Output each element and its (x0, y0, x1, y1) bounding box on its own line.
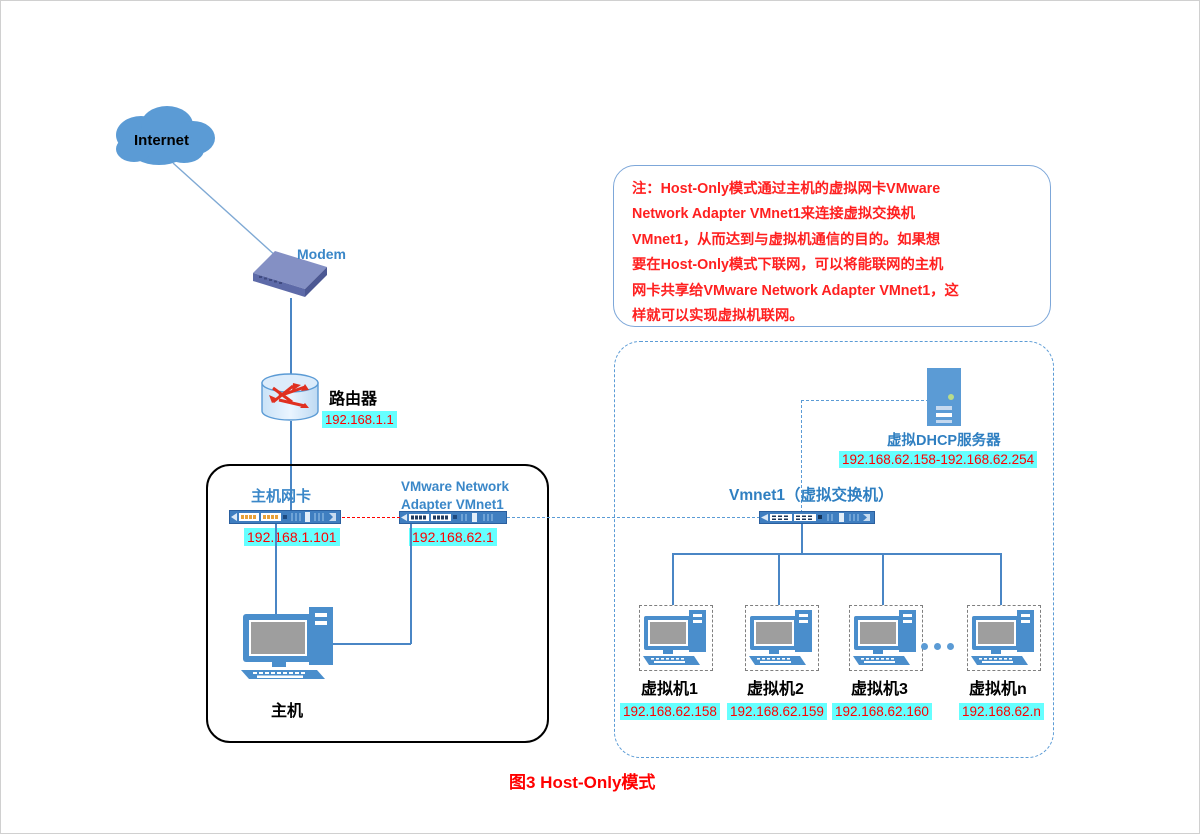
vmware-nic-label-line2: Adapter VMnet1 (401, 497, 504, 512)
link-bus-to-vm-2 (778, 553, 780, 605)
link-vmnic-to-host (331, 643, 411, 645)
vm-ellipsis (921, 637, 960, 655)
vm-1-computer-icon (642, 608, 708, 666)
note-line-5: 网卡共享给VMware Network Adapter VMnet1，这 (632, 279, 1034, 304)
vm-3-ip: 192.168.62.160 (832, 703, 932, 720)
note-line-3: VMnet1，从而达到与虚拟机通信的目的。如果想 (632, 228, 1034, 253)
router-ip: 192.168.1.1 (322, 411, 397, 428)
host-nic-ip: 192.168.1.101 (244, 528, 340, 546)
vm-bus-line (672, 553, 1001, 555)
vm-n-computer-icon (970, 608, 1036, 666)
host-label: 主机 (271, 697, 303, 721)
link-nic-to-vmnic-red-dashed (342, 517, 400, 518)
network-adapter-icon (229, 510, 341, 524)
link-bus-to-vm-4 (1000, 553, 1002, 605)
link-bus-to-vm-3 (882, 553, 884, 605)
link-modem-router (290, 298, 292, 374)
vm-3-computer-icon (852, 608, 918, 666)
figure-title: 图3 Host-Only模式 (509, 768, 655, 793)
vm-2-computer-icon (748, 608, 814, 666)
note-line-6: 样就可以实现虚拟机联网。 (632, 304, 1034, 329)
diagram-canvas: Internet Modem (0, 0, 1200, 834)
vmware-nic-ip: 192.168.62.1 (409, 528, 497, 546)
link-vswitch-to-dhcp-horizontal (801, 400, 929, 401)
host-nic-label: 主机网卡 (251, 485, 311, 506)
link-vswitch-down (801, 524, 803, 554)
vm-2-ip: 192.168.62.159 (727, 703, 827, 720)
vm-1-label: 虚拟机1 (641, 675, 698, 699)
vmnet1-switch-label: Vmnet1（虚拟交换机） (729, 483, 894, 505)
desktop-computer-icon (239, 602, 337, 680)
link-vmnic-down (410, 524, 412, 644)
dhcp-server-label: 虚拟DHCP服务器 (887, 429, 1001, 450)
vmware-network-adapter-icon (399, 511, 507, 524)
router-icon (259, 372, 321, 422)
note-line-4: 要在Host-Only模式下联网，可以将能联网的主机 (632, 253, 1034, 278)
note-line-2: Network Adapter VMnet1来连接虚拟交换机 (632, 202, 1034, 227)
link-bus-to-vm-1 (672, 553, 674, 605)
note-box: 注：Host-Only模式通过主机的虚拟网卡VMware Network Ada… (613, 165, 1051, 327)
switch-icon (759, 511, 875, 524)
note-line-1: 注：Host-Only模式通过主机的虚拟网卡VMware (632, 177, 1034, 202)
internet-label: Internet (134, 132, 189, 149)
server-icon (927, 368, 961, 426)
router-label: 路由器 (329, 385, 377, 409)
vm-2-label: 虚拟机2 (747, 675, 804, 699)
vmware-nic-label-line1: VMware Network (401, 479, 509, 494)
vm-n-label: 虚拟机n (969, 675, 1027, 699)
vm-3-label: 虚拟机3 (851, 675, 908, 699)
link-cloud-modem (171, 161, 291, 261)
modem-label: Modem (297, 246, 346, 262)
dhcp-server-ip-range: 192.168.62.158-192.168.62.254 (839, 451, 1037, 468)
vm-n-ip: 192.168.62.n (959, 703, 1044, 720)
vm-1-ip: 192.168.62.158 (620, 703, 720, 720)
